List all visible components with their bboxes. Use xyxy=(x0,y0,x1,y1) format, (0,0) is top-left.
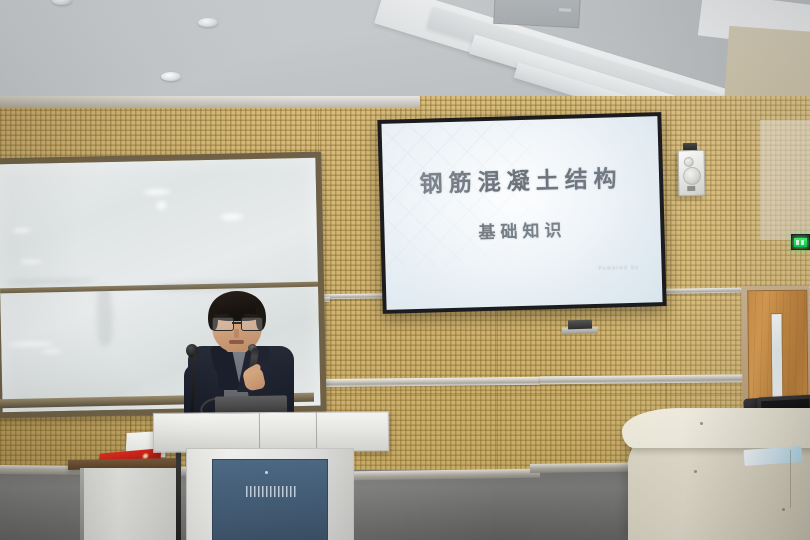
exit-sign-icon xyxy=(791,234,810,250)
lectern-vent-slots xyxy=(246,486,298,497)
screen-mount-bracket xyxy=(568,320,592,330)
whiteboard-glare xyxy=(9,341,53,347)
side-table-body xyxy=(80,468,176,540)
desk-panel-seam xyxy=(790,450,791,508)
lectern-top-seam xyxy=(316,413,317,451)
eyeglasses-icon xyxy=(211,317,263,329)
wall-speaker-icon xyxy=(678,150,706,196)
lecture-hall-photo: 钢筋混凝土结构 基础知识 Powered by xyxy=(0,0,810,540)
projection-screen: 钢筋混凝土结构 基础知识 Powered by xyxy=(377,112,666,314)
presenter-nose xyxy=(234,329,239,338)
lectern-top xyxy=(153,411,389,453)
lectern-indicator-light xyxy=(265,471,268,474)
exit-sign-glow xyxy=(794,238,807,247)
whiteboard-glare xyxy=(41,349,61,353)
wall-panel-seam xyxy=(666,110,667,440)
whiteboard-glare xyxy=(144,189,170,196)
ceiling-downlight-icon xyxy=(198,18,218,27)
whiteboard-glare xyxy=(13,228,31,233)
speaker-tweeter xyxy=(684,157,694,167)
whiteboard-smudge xyxy=(96,286,113,346)
ceiling-downlight-icon xyxy=(161,72,181,81)
ceiling-vent xyxy=(493,0,581,28)
desk-fastener xyxy=(694,470,697,473)
side-table-leg xyxy=(80,468,84,540)
projection-screen-surface: 钢筋混凝土结构 基础知识 Powered by xyxy=(381,116,662,310)
desk-fastener xyxy=(700,422,703,425)
whiteboard-glare xyxy=(19,259,41,263)
lectern-front-panel xyxy=(212,459,328,540)
desk-fastener xyxy=(782,508,785,511)
slide-footnote: Powered by xyxy=(599,265,640,272)
podium-leg xyxy=(176,450,181,540)
whiteboard-smudge xyxy=(6,278,96,285)
whiteboard-glare xyxy=(156,201,166,210)
eyeglass-bridge xyxy=(232,322,242,324)
presenter-mouth xyxy=(229,340,244,344)
wall-top-band xyxy=(0,96,420,108)
wall-panel-seam xyxy=(736,120,737,290)
slide-title: 钢筋混凝土结构 xyxy=(383,158,660,200)
lectern-top-seam xyxy=(259,413,260,451)
eyeglass-lens-left xyxy=(212,317,234,331)
speaker-badge xyxy=(687,186,695,191)
whiteboard-glare xyxy=(221,213,243,220)
eyeglass-lens-right xyxy=(241,317,263,331)
curved-control-desk-top xyxy=(622,408,810,448)
right-wall-surface xyxy=(760,120,810,240)
door-glass-panel xyxy=(770,313,783,407)
speaker-woofer xyxy=(683,167,701,185)
